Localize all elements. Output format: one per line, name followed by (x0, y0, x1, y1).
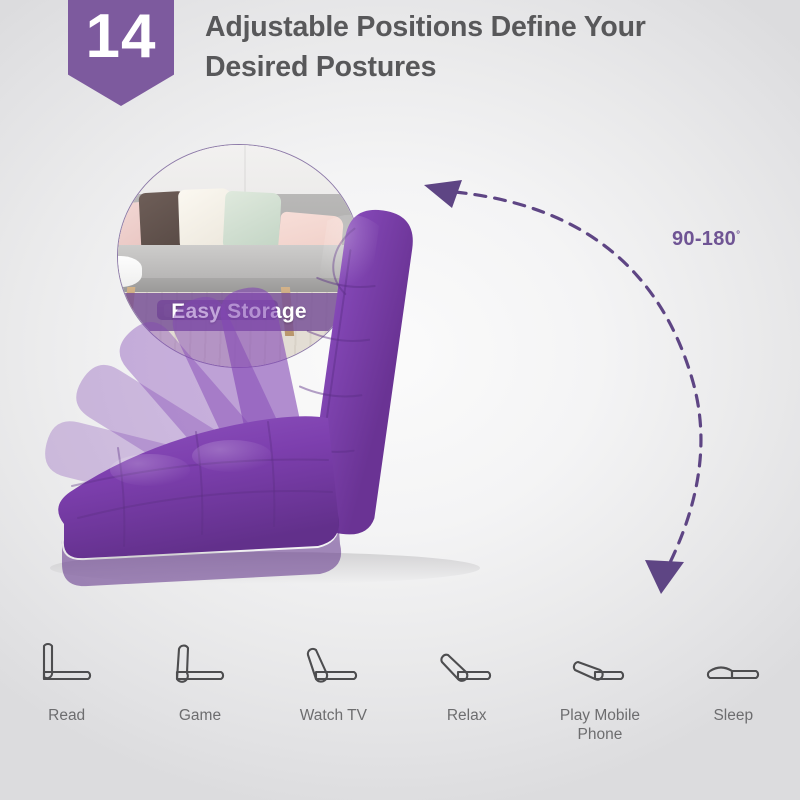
page-title-line-1: Adjustable Positions Define Your (205, 8, 765, 48)
usage-mode-label: Sleep (713, 706, 753, 725)
chair-recline-160-icon (554, 640, 646, 692)
angle-range-label: 90-180° (672, 228, 740, 251)
usage-mode-read[interactable]: Read (0, 640, 133, 760)
chair-recline-90-icon (21, 640, 113, 692)
header: 14 Adjustable Positions Define Your Desi… (0, 0, 800, 118)
usage-mode-label: Watch TV (300, 706, 367, 725)
usage-mode-game[interactable]: Game (133, 640, 266, 760)
angle-range-value: 90-180 (672, 228, 736, 250)
usage-mode-label: Play Mobile Phone (545, 706, 655, 745)
usage-mode-row: Read Game (0, 640, 800, 760)
badge-number: 14 (86, 0, 157, 68)
page-title-line-2: Desired Postures (205, 48, 765, 88)
usage-mode-label: Read (48, 706, 85, 725)
infographic-canvas: 14 Adjustable Positions Define Your Desi… (0, 0, 800, 800)
chair-recline-140-icon (421, 640, 513, 692)
chair-recline-120-icon (287, 640, 379, 692)
usage-mode-relax[interactable]: Relax (400, 640, 533, 760)
usage-mode-label: Relax (447, 706, 487, 725)
rotation-arc-path (455, 192, 701, 582)
position-count-badge: 14 (68, 0, 174, 106)
arc-arrow-head-top (424, 180, 462, 208)
chair-recline-100-icon (154, 640, 246, 692)
usage-mode-play-mobile-phone[interactable]: Play Mobile Phone (533, 640, 666, 760)
degree-symbol: ° (736, 229, 740, 240)
usage-mode-watch-tv[interactable]: Watch TV (267, 640, 400, 760)
rotation-arc-indicator (424, 180, 701, 594)
page-title: Adjustable Positions Define Your Desired… (205, 8, 765, 87)
chair-recline-180-icon (687, 640, 779, 692)
arc-arrow-head-bottom (645, 560, 684, 594)
usage-mode-label: Game (179, 706, 221, 725)
usage-mode-sleep[interactable]: Sleep (667, 640, 800, 760)
product-illustration (0, 150, 800, 650)
